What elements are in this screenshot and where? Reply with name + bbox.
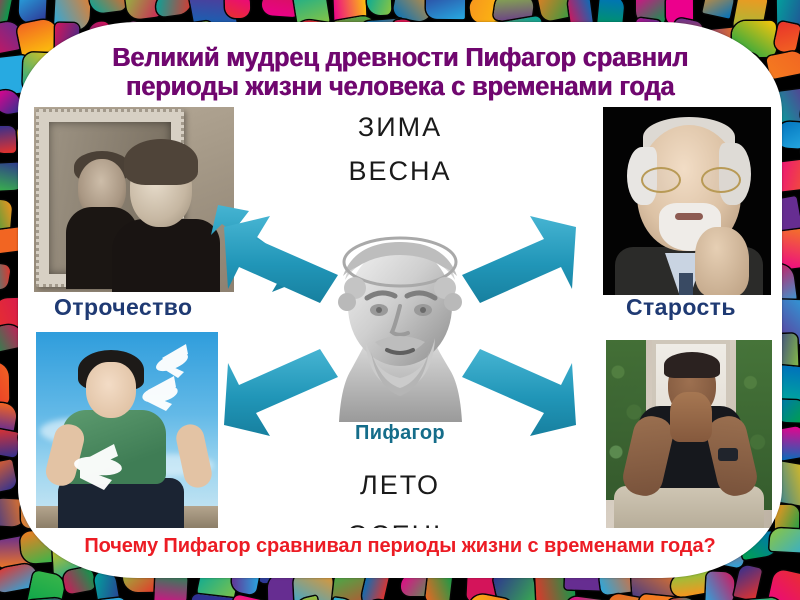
title-line-1: Великий мудрец древности Пифагор сравнил	[112, 44, 688, 72]
page-title: Великий мудрец древности Пифагор сравнил…	[18, 44, 782, 102]
mosaic-tile	[765, 569, 800, 600]
season-spring: ВЕСНА	[18, 156, 782, 187]
mosaic-tile	[0, 362, 9, 406]
mosaic-tile	[89, 0, 127, 14]
pythagoras-bust-image	[299, 202, 501, 424]
mosaic-tile	[702, 0, 735, 18]
mosaic-tile	[426, 0, 466, 19]
caption-old-age: Старость	[626, 294, 736, 321]
mosaic-tile	[0, 400, 17, 431]
caption-adolescence: Отрочество	[54, 294, 192, 321]
slide-canvas: Великий мудрец древности Пифагор сравнил…	[0, 0, 800, 600]
mosaic-tile	[224, 0, 250, 17]
mosaic-tile	[706, 572, 735, 600]
mosaic-tile	[734, 564, 763, 600]
mosaic-tile	[0, 126, 17, 153]
mosaic-tile	[367, 0, 392, 16]
season-winter: ЗИМА	[18, 112, 782, 143]
season-summer: ЛЕТО	[18, 470, 782, 501]
question-banner: Почему Пифагор сравнивал периоды жизни с…	[18, 528, 782, 564]
title-line-2: периоды жизни человека с временами года	[18, 73, 782, 102]
content-panel: Великий мудрец древности Пифагор сравнил…	[18, 22, 782, 578]
mosaic-tile	[155, 0, 194, 17]
pythagoras-label: Пифагор	[18, 422, 782, 445]
question-text: Почему Пифагор сравнивал периоды жизни с…	[84, 535, 715, 558]
mosaic-tile	[0, 262, 11, 290]
mosaic-tile	[261, 0, 299, 17]
mosaic-tile	[0, 459, 18, 493]
